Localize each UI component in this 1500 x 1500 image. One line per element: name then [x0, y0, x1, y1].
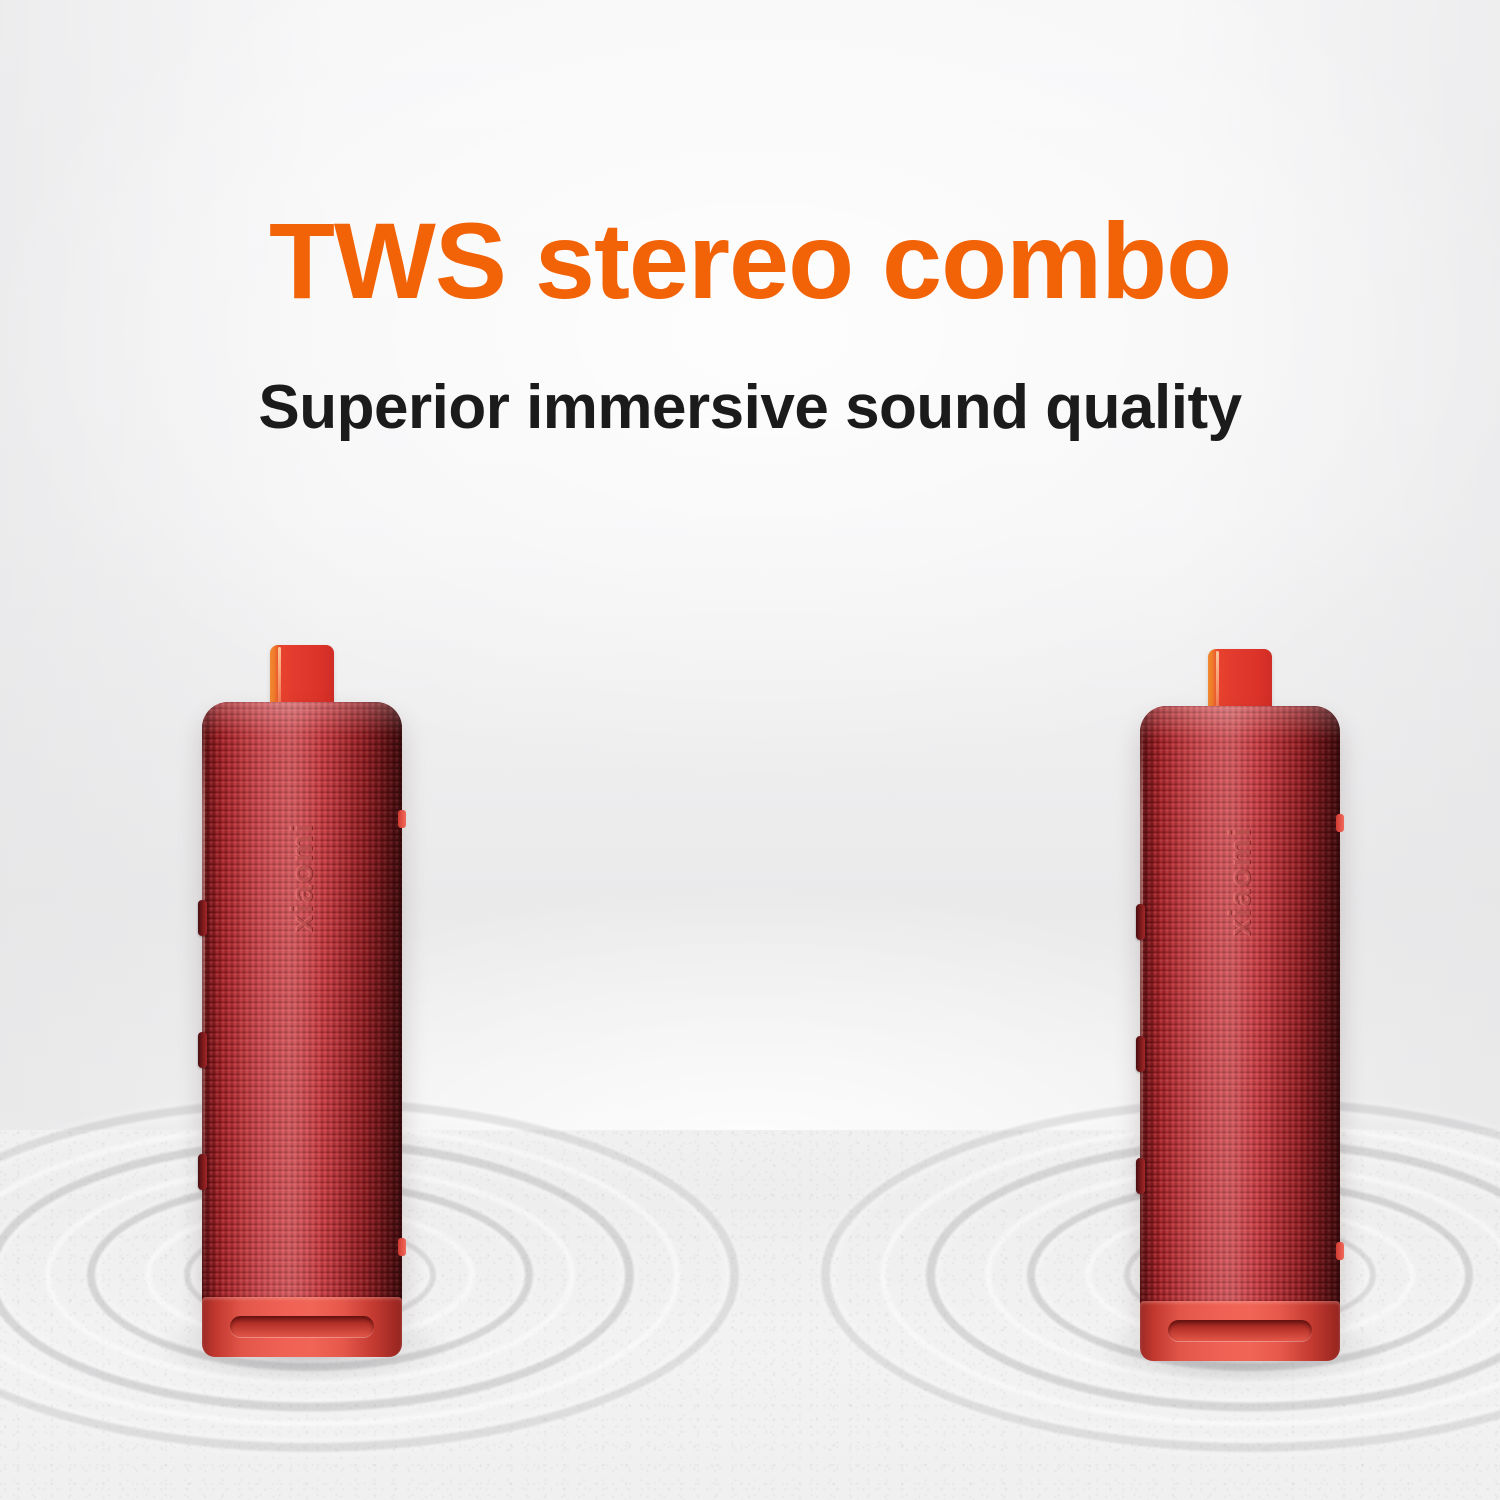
product-marketing-banner: TWS stereo combo Superior immersive soun…: [0, 0, 1500, 1500]
side-button-power[interactable]: [198, 900, 207, 936]
speaker-base: [1140, 1301, 1340, 1361]
left-edge-highlight: [202, 708, 205, 1306]
speaker-body: xiaomi: [1140, 706, 1340, 1316]
top-cap-highlight: [202, 702, 402, 736]
side-button-power[interactable]: [1136, 904, 1145, 940]
left-edge-highlight: [1140, 712, 1143, 1310]
side-button-volume-down[interactable]: [1136, 1158, 1145, 1194]
passive-radiator-slot: [230, 1316, 374, 1337]
speaker-right: xiaomi: [1140, 706, 1340, 1361]
xiaomi-logo: xiaomi: [284, 822, 320, 932]
speaker-base: [202, 1297, 402, 1357]
speaker-body: xiaomi: [202, 702, 402, 1312]
right-edge-accent-bottom: [1336, 1242, 1344, 1260]
page-subheadline: Superior immersive sound quality: [0, 375, 1500, 440]
page-headline: TWS stereo combo: [0, 207, 1500, 315]
passive-radiator-slot: [1168, 1320, 1312, 1341]
right-edge-accent-top: [398, 810, 406, 828]
right-edge-accent-bottom: [398, 1238, 406, 1256]
side-button-volume-up[interactable]: [198, 1032, 207, 1068]
speaker-left: xiaomi: [202, 702, 402, 1357]
right-edge-accent-top: [1336, 814, 1344, 832]
cylinder-shading: [202, 702, 402, 1312]
side-button-volume-down[interactable]: [198, 1154, 207, 1190]
top-cap-highlight: [1140, 706, 1340, 740]
xiaomi-logo: xiaomi: [1222, 826, 1258, 936]
cylinder-shading: [1140, 706, 1340, 1316]
side-button-volume-up[interactable]: [1136, 1036, 1145, 1072]
